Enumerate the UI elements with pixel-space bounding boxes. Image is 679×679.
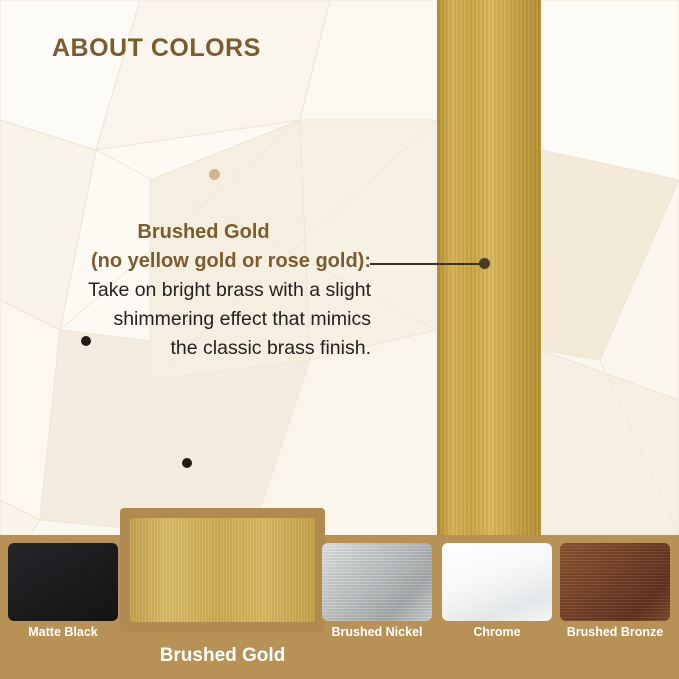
callout-text-block: Brushed Gold (no yellow gold or rose gol… <box>36 218 371 363</box>
swatch-label-matte-black: Matte Black <box>8 625 118 639</box>
swatch-label-brushed-bronze: Brushed Bronze <box>550 625 679 639</box>
accent-dot-light <box>209 169 220 180</box>
accent-dot-dark-lower <box>182 458 192 468</box>
callout-body-line-3: the classic brass finish. <box>36 334 371 363</box>
swatch-label-brushed-nickel: Brushed Nickel <box>312 625 442 639</box>
swatch-chrome[interactable] <box>442 543 552 621</box>
swatch-brushed-nickel[interactable] <box>322 543 432 621</box>
swatch-matte-black[interactable] <box>8 543 118 621</box>
swatch-label-chrome: Chrome <box>442 625 552 639</box>
callout-body-line-1: Take on bright brass with a slight <box>36 276 371 305</box>
callout-body-line-2: shimmering effect that mimics <box>36 305 371 334</box>
swatch-brushed-bronze[interactable] <box>560 543 670 621</box>
swatch-brushed-gold[interactable] <box>130 518 315 622</box>
callout-leader-line <box>370 263 482 265</box>
brushed-gold-column <box>437 0 541 542</box>
callout-heading-line-1: Brushed Gold <box>36 218 371 247</box>
callout-heading-line-2: (no yellow gold or rose gold): <box>36 247 371 276</box>
swatch-label-brushed-gold: Brushed Gold <box>120 645 325 667</box>
page-title: ABOUT COLORS <box>52 34 261 63</box>
about-colors-graphic: ABOUT COLORS Brushed Gold (no yellow gol… <box>0 0 679 679</box>
callout-leader-dot <box>479 258 490 269</box>
